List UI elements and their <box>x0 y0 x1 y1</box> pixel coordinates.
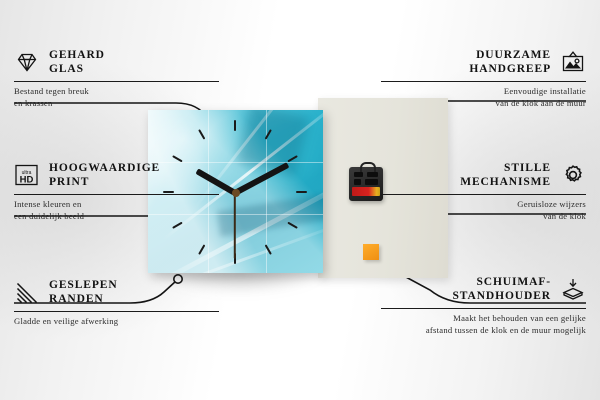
callout-title: GEHARDGLAS <box>49 48 105 77</box>
clock-mechanism <box>349 167 383 201</box>
hand-cap <box>232 189 240 197</box>
callout-description: Eenvoudige installatievan de klok aan de… <box>381 86 586 109</box>
infographic-stage: GEHARDGLAS Bestand tegen breuken krassen… <box>0 0 600 400</box>
callout-description: Gladde en veilige afwerking <box>14 316 219 328</box>
callout-rule <box>381 308 586 309</box>
callout-rule <box>381 194 586 195</box>
bevelled-edge-icon <box>14 280 40 304</box>
second-hand <box>234 192 236 258</box>
callout-description: Geruisloze wijzersvan de klok <box>381 199 586 222</box>
picture-frame-icon <box>560 50 586 74</box>
callout-description: Bestand tegen breuken krassen <box>14 86 219 109</box>
callout-hoogwaardige-print: ultra HD HOOGWAARDIGEPRINT Intense kleur… <box>14 161 219 222</box>
diamond-icon <box>14 50 40 74</box>
callout-title: GESLEPENRANDEN <box>49 278 118 307</box>
callout-description: Maakt het behouden van een gelijkeafstan… <box>381 313 586 336</box>
callout-geslepen-randen: GESLEPENRANDEN Gladde en veilige afwerki… <box>14 278 219 328</box>
callout-duurzame-handgreep: DUURZAMEHANDGREEP Eenvoudige installatie… <box>381 48 586 109</box>
callout-title: DUURZAMEHANDGREEP <box>469 48 551 77</box>
callout-rule <box>14 194 219 195</box>
gear-icon <box>560 163 586 187</box>
callout-rule <box>14 81 219 82</box>
callout-rule <box>14 311 219 312</box>
hanging-hook-icon <box>360 162 376 172</box>
battery <box>352 187 380 196</box>
callout-stille-mechanisme: STILLEMECHANISME Geruisloze wijzersvan d… <box>381 161 586 222</box>
callout-title: SCHUIMAF-STANDHOUDER <box>452 275 551 304</box>
callout-title: STILLEMECHANISME <box>460 161 551 190</box>
svg-text:HD: HD <box>20 175 34 186</box>
callout-schuimafstandhouder: SCHUIMAF-STANDHOUDER Maakt het behouden … <box>381 275 586 336</box>
ultra-hd-icon: ultra HD <box>14 163 40 187</box>
callout-description: Intense kleuren eneen duidelijk beeld <box>14 199 219 222</box>
press-down-pad-icon <box>560 277 586 301</box>
foam-spacer <box>363 244 379 260</box>
callout-title: HOOGWAARDIGEPRINT <box>49 161 160 190</box>
callout-rule <box>381 81 586 82</box>
callout-gehard-glas: GEHARDGLAS Bestand tegen breuken krassen <box>14 48 219 109</box>
